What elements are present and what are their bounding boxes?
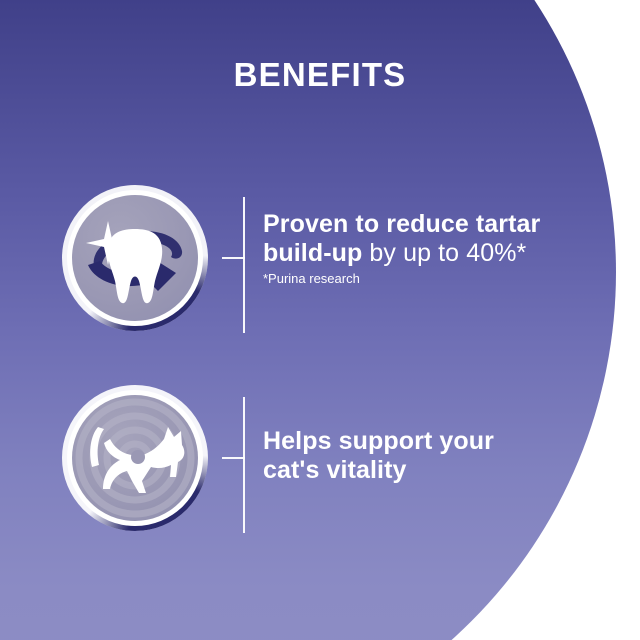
benefit-copy-2: Helps support your cat's vitality [263, 427, 553, 485]
benefits-panel: BENEFITS Proven to reduce tar [0, 0, 640, 640]
benefit-connector-tick-1 [222, 257, 245, 259]
benefit-headline-rest-1: by up to 40%* [362, 239, 526, 267]
page-title: BENEFITS [0, 58, 640, 91]
badge-disc [72, 195, 198, 321]
benefit-headline-bold-2: Helps support your cat's vitality [263, 427, 494, 484]
benefit-copy-1: Proven to reduce tartar build-up by up t… [263, 210, 553, 286]
benefit-headline-2: Helps support your cat's vitality [263, 427, 553, 485]
benefit-icon-badge-2 [62, 385, 208, 531]
benefit-connector-tick-2 [222, 457, 245, 459]
cat-vitality-icon [72, 395, 198, 521]
benefit-headline-1: Proven to reduce tartar build-up by up t… [263, 210, 553, 268]
badge-disc [72, 395, 198, 521]
benefit-connector-line-1 [243, 197, 245, 333]
tooth-sparkle-icon [72, 195, 198, 321]
benefit-icon-badge-1 [62, 185, 208, 331]
benefit-footnote-1: *Purina research [263, 271, 553, 286]
benefit-connector-line-2 [243, 397, 245, 533]
